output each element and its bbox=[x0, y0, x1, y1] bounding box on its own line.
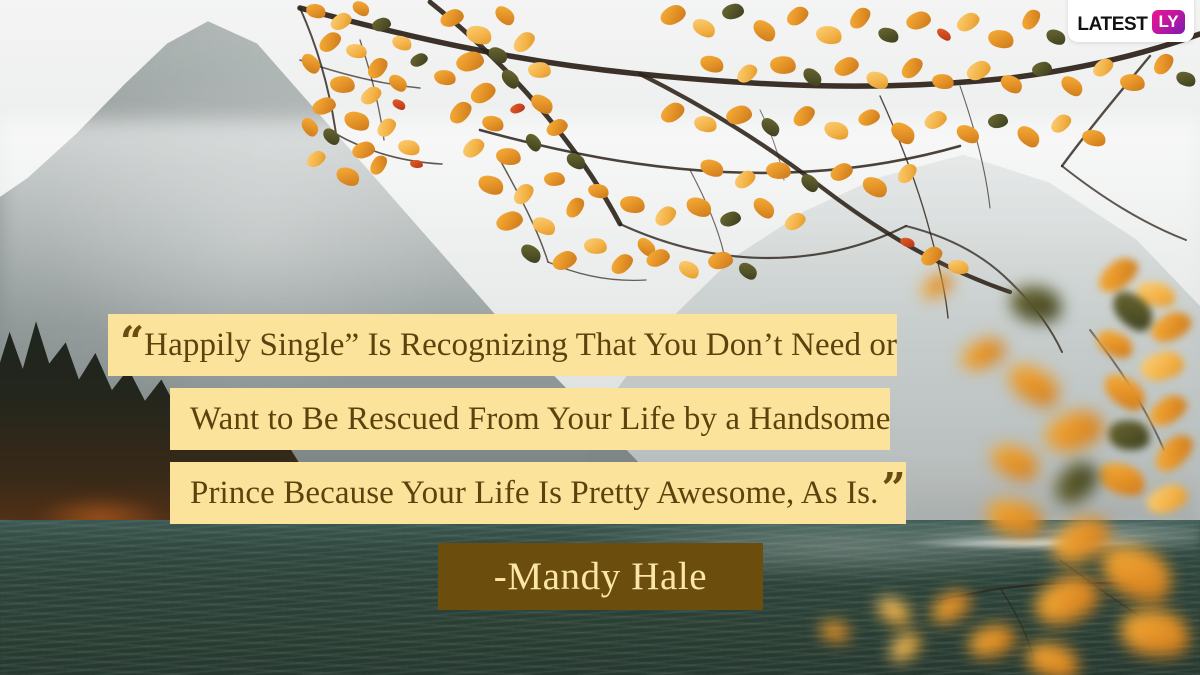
quote-line-1: “ Happily Single” Is Recognizing That Yo… bbox=[108, 314, 897, 376]
logo-badge: LY bbox=[1152, 10, 1184, 34]
latestly-logo[interactable]: LATEST LY bbox=[1068, 0, 1194, 42]
quote-line-3: Prince Because Your Life Is Pretty Aweso… bbox=[170, 462, 906, 524]
quote-line-3-text: Prince Because Your Life Is Pretty Aweso… bbox=[190, 475, 878, 512]
quote-line-1-text: Happily Single” Is Recognizing That You … bbox=[144, 327, 897, 364]
attribution-box: -Mandy Hale bbox=[438, 543, 763, 610]
quote-line-2-text: Want to Be Rescued From Your Life by a H… bbox=[190, 401, 890, 438]
quote-line-2: Want to Be Rescued From Your Life by a H… bbox=[170, 388, 890, 450]
attribution-text: -Mandy Hale bbox=[494, 554, 707, 599]
quote-card: “ Happily Single” Is Recognizing That Yo… bbox=[0, 0, 1200, 675]
logo-wordmark: LATEST bbox=[1077, 15, 1147, 34]
